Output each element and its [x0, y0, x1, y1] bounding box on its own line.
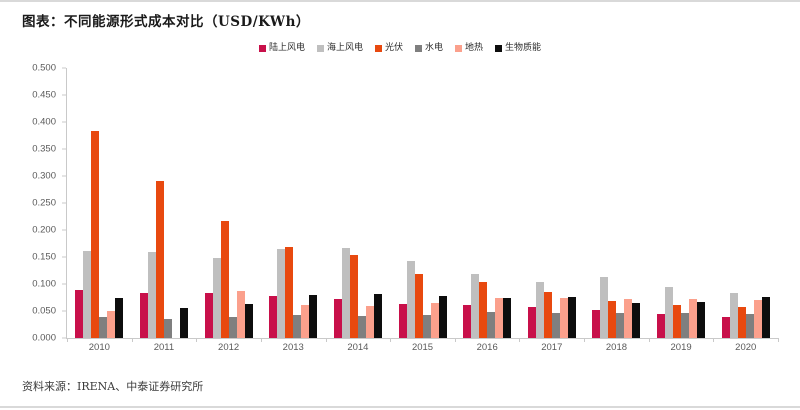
- bar[interactable]: [91, 131, 99, 338]
- y-axis-tick-mark: [62, 122, 66, 123]
- y-axis-tick-mark: [62, 284, 66, 285]
- legend-label: 光伏: [385, 44, 403, 53]
- legend-item[interactable]: 水电: [415, 44, 443, 53]
- bar[interactable]: [334, 299, 342, 338]
- x-axis-tick-label: 2014: [326, 342, 391, 353]
- bar[interactable]: [632, 303, 640, 338]
- bar[interactable]: [738, 307, 746, 338]
- y-axis-tick-mark: [62, 95, 66, 96]
- x-axis-tick-mark: [132, 338, 133, 342]
- bar[interactable]: [544, 292, 552, 338]
- legend-swatch-icon: [375, 45, 382, 52]
- bar[interactable]: [309, 295, 317, 338]
- bar[interactable]: [285, 247, 293, 338]
- x-axis-tick-mark: [649, 338, 650, 342]
- x-axis-tick-mark: [778, 338, 779, 342]
- bar-group: [132, 68, 197, 338]
- bar[interactable]: [180, 308, 188, 338]
- bar-group: [649, 68, 714, 338]
- bar-group: [326, 68, 391, 338]
- bar-group: [713, 68, 778, 338]
- source-note: 资料来源：IRENA、中泰证券研究所: [22, 378, 203, 394]
- bar-group: [261, 68, 326, 338]
- bar[interactable]: [673, 305, 681, 338]
- bar[interactable]: [164, 319, 172, 338]
- bar[interactable]: [205, 293, 213, 338]
- x-axis-tick-mark: [67, 338, 68, 342]
- legend-item[interactable]: 地热: [455, 44, 483, 53]
- bar[interactable]: [600, 277, 608, 338]
- y-axis-tick-mark: [62, 230, 66, 231]
- bar-group: [584, 68, 649, 338]
- x-axis-tick-mark: [519, 338, 520, 342]
- y-axis-tick-mark: [62, 176, 66, 177]
- bar[interactable]: [342, 248, 350, 338]
- legend-label: 地热: [465, 44, 483, 53]
- legend-swatch-icon: [415, 45, 422, 52]
- legend-swatch-icon: [259, 45, 266, 52]
- bar[interactable]: [431, 303, 439, 338]
- bar[interactable]: [107, 311, 115, 338]
- bar[interactable]: [99, 317, 107, 338]
- top-divider: [0, 0, 800, 2]
- bar[interactable]: [754, 300, 762, 338]
- bottom-divider: [0, 406, 800, 408]
- x-axis-line: [66, 338, 778, 339]
- plot-area: 0.5000.4500.4000.3500.3000.2500.2000.150…: [0, 68, 800, 358]
- bar[interactable]: [495, 298, 503, 338]
- bar-group: [196, 68, 261, 338]
- y-axis-tick-label: 0.200: [32, 225, 56, 236]
- x-axis-tick-mark: [455, 338, 456, 342]
- bar[interactable]: [568, 297, 576, 338]
- legend-swatch-icon: [455, 45, 462, 52]
- legend-swatch-icon: [317, 45, 324, 52]
- legend-label: 生物质能: [505, 44, 541, 53]
- bar[interactable]: [358, 316, 366, 338]
- bar[interactable]: [374, 294, 382, 338]
- bar[interactable]: [350, 255, 358, 338]
- bar[interactable]: [366, 306, 374, 338]
- bar[interactable]: [269, 296, 277, 338]
- bar[interactable]: [277, 249, 285, 338]
- y-axis-tick-label: 0.450: [32, 90, 56, 101]
- bar[interactable]: [156, 181, 164, 338]
- x-axis-tick-label: 2019: [649, 342, 714, 353]
- bar[interactable]: [423, 315, 431, 338]
- y-axis-tick-label: 0.050: [32, 306, 56, 317]
- y-axis-tick-mark: [62, 203, 66, 204]
- bar[interactable]: [293, 315, 301, 338]
- bar[interactable]: [415, 274, 423, 338]
- bar[interactable]: [301, 305, 309, 338]
- y-axis-tick-label: 0.150: [32, 252, 56, 263]
- y-axis-tick-mark: [62, 257, 66, 258]
- bar[interactable]: [75, 290, 83, 338]
- y-axis-tick-label: 0.000: [32, 333, 56, 344]
- bar[interactable]: [624, 299, 632, 338]
- y-axis-tick-label: 0.500: [32, 63, 56, 74]
- x-axis-tick-mark: [584, 338, 585, 342]
- x-axis-tick-label: 2013: [261, 342, 326, 353]
- x-axis: 2010201120122013201420152016201720182019…: [67, 342, 778, 353]
- bar[interactable]: [616, 313, 624, 338]
- legend-item[interactable]: 生物质能: [495, 44, 541, 53]
- bar[interactable]: [722, 317, 730, 338]
- x-axis-tick-label: 2016: [455, 342, 520, 353]
- x-axis-tick-label: 2011: [132, 342, 197, 353]
- bars-area: [67, 68, 778, 338]
- bar-group: [455, 68, 520, 338]
- bar[interactable]: [665, 287, 673, 338]
- bar[interactable]: [471, 274, 479, 338]
- x-axis-tick-label: 2018: [584, 342, 649, 353]
- y-axis: 0.5000.4500.4000.3500.3000.2500.2000.150…: [14, 68, 60, 338]
- bar[interactable]: [229, 317, 237, 338]
- x-axis-tick-label: 2010: [67, 342, 132, 353]
- bar[interactable]: [552, 313, 560, 338]
- bar[interactable]: [463, 305, 471, 338]
- bar[interactable]: [245, 304, 253, 338]
- bar[interactable]: [83, 251, 91, 338]
- y-axis-tick-label: 0.100: [32, 279, 56, 290]
- y-axis-tick-label: 0.250: [32, 198, 56, 209]
- bar[interactable]: [140, 293, 148, 338]
- bar-group: [519, 68, 584, 338]
- y-axis-tick-mark: [62, 68, 66, 69]
- bar[interactable]: [439, 296, 447, 338]
- bar[interactable]: [487, 312, 495, 338]
- legend-label: 陆上风电: [269, 44, 305, 53]
- x-axis-tick-mark: [261, 338, 262, 342]
- bar[interactable]: [399, 304, 407, 338]
- x-axis-tick-mark: [196, 338, 197, 342]
- legend-item[interactable]: 海上风电: [317, 44, 363, 53]
- bar-group: [390, 68, 455, 338]
- y-axis-tick-label: 0.300: [32, 171, 56, 182]
- legend-swatch-icon: [495, 45, 502, 52]
- legend-item[interactable]: 光伏: [375, 44, 403, 53]
- x-axis-tick-label: 2012: [196, 342, 261, 353]
- y-axis-tick-mark: [62, 338, 66, 339]
- bar[interactable]: [592, 310, 600, 338]
- x-axis-tick-label: 2015: [390, 342, 455, 353]
- bar-group: [67, 68, 132, 338]
- bar[interactable]: [560, 298, 568, 339]
- bar[interactable]: [528, 307, 536, 338]
- legend-label: 水电: [425, 44, 443, 53]
- bar[interactable]: [407, 261, 415, 338]
- bar[interactable]: [657, 314, 665, 338]
- bar[interactable]: [762, 297, 770, 338]
- y-axis-tick-mark: [62, 149, 66, 150]
- x-axis-tick-label: 2017: [519, 342, 584, 353]
- bar[interactable]: [503, 298, 511, 339]
- y-axis-tick-label: 0.350: [32, 144, 56, 155]
- bar[interactable]: [221, 221, 229, 338]
- bar[interactable]: [689, 299, 697, 338]
- y-axis-tick-mark: [62, 311, 66, 312]
- bar[interactable]: [213, 258, 221, 338]
- x-axis-tick-label: 2020: [713, 342, 778, 353]
- bar[interactable]: [697, 302, 705, 338]
- legend-label: 海上风电: [327, 44, 363, 53]
- bar[interactable]: [681, 313, 689, 338]
- x-axis-tick-mark: [713, 338, 714, 342]
- y-axis-tick-label: 0.400: [32, 117, 56, 128]
- bar[interactable]: [148, 252, 156, 338]
- bar[interactable]: [536, 282, 544, 338]
- x-axis-tick-mark: [326, 338, 327, 342]
- bar[interactable]: [746, 314, 754, 338]
- x-axis-tick-mark: [390, 338, 391, 342]
- legend-item[interactable]: 陆上风电: [259, 44, 305, 53]
- bar[interactable]: [237, 291, 245, 338]
- chart-title: 图表：不同能源形式成本对比（USD/KWh）: [22, 10, 310, 30]
- bar[interactable]: [608, 301, 616, 338]
- bar[interactable]: [730, 293, 738, 338]
- bar[interactable]: [479, 282, 487, 338]
- chart-legend: 陆上风电海上风电光伏水电地热生物质能: [0, 44, 800, 53]
- bar[interactable]: [115, 298, 123, 339]
